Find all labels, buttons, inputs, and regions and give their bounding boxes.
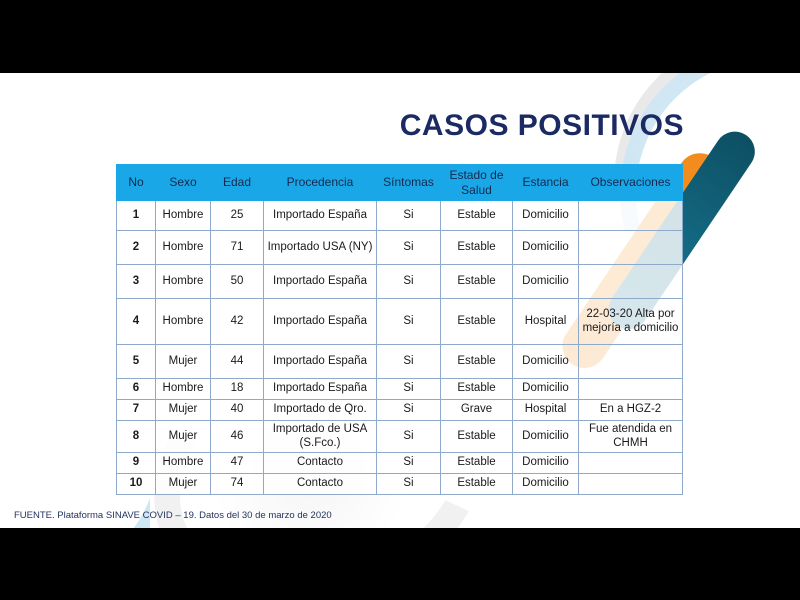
column-header-estancia: Estancia <box>513 165 579 201</box>
table-row: 4 Hombre 42 Importado España Si Estable … <box>117 299 683 345</box>
cell-estado: Estable <box>441 265 513 299</box>
cell-observaciones <box>579 453 683 474</box>
column-header-no: No <box>117 165 156 201</box>
column-header-estado-de-salud: Estado de Salud <box>441 165 513 201</box>
cell-sintomas: Si <box>377 421 441 453</box>
cell-estado: Estable <box>441 345 513 379</box>
cell-procedencia: Contacto <box>264 474 377 495</box>
cell-no: 8 <box>117 421 156 453</box>
cell-procedencia: Importado España <box>264 265 377 299</box>
cell-observaciones <box>579 474 683 495</box>
cell-edad: 71 <box>211 231 264 265</box>
cell-procedencia: Importado España <box>264 299 377 345</box>
cell-sintomas: Si <box>377 265 441 299</box>
cell-observaciones <box>579 379 683 400</box>
cell-estado: Estable <box>441 231 513 265</box>
table-row: 7 Mujer 40 Importado de Qro. Si Grave Ho… <box>117 400 683 421</box>
cell-procedencia: Importado USA (NY) <box>264 231 377 265</box>
table-body: 1 Hombre 25 Importado España Si Estable … <box>117 201 683 495</box>
cell-sexo: Hombre <box>156 299 211 345</box>
slide-stage: CASOS POSITIVOS No Sexo <box>0 0 800 600</box>
cell-no: 3 <box>117 265 156 299</box>
cell-estancia: Domicilio <box>513 453 579 474</box>
cell-no: 6 <box>117 379 156 400</box>
cell-sexo: Mujer <box>156 474 211 495</box>
cell-edad: 18 <box>211 379 264 400</box>
column-header-sintomas: Síntomas <box>377 165 441 201</box>
table-row: 3 Hombre 50 Importado España Si Estable … <box>117 265 683 299</box>
cell-observaciones: En a HGZ-2 <box>579 400 683 421</box>
cell-estado: Estable <box>441 201 513 231</box>
cell-estado: Estable <box>441 474 513 495</box>
cell-sintomas: Si <box>377 400 441 421</box>
cell-estado: Estable <box>441 421 513 453</box>
table-row: 5 Mujer 44 Importado España Si Estable D… <box>117 345 683 379</box>
cell-edad: 25 <box>211 201 264 231</box>
cell-edad: 46 <box>211 421 264 453</box>
cell-procedencia: Importado de Qro. <box>264 400 377 421</box>
cell-edad: 50 <box>211 265 264 299</box>
table-row: 8 Mujer 46 Importado de USA (S.Fco.) Si … <box>117 421 683 453</box>
cell-estancia: Domicilio <box>513 379 579 400</box>
cell-edad: 47 <box>211 453 264 474</box>
cell-estado: Estable <box>441 453 513 474</box>
cell-no: 9 <box>117 453 156 474</box>
cell-estancia: Domicilio <box>513 474 579 495</box>
cell-estado: Estable <box>441 379 513 400</box>
cell-estado: Estable <box>441 299 513 345</box>
cell-observaciones <box>579 231 683 265</box>
table-header-row: No Sexo Edad Procedencia Síntomas Estado… <box>117 165 683 201</box>
cell-observaciones <box>579 345 683 379</box>
column-header-sexo: Sexo <box>156 165 211 201</box>
cell-sexo: Mujer <box>156 400 211 421</box>
cell-procedencia: Importado de USA (S.Fco.) <box>264 421 377 453</box>
letterbox-top <box>0 0 800 73</box>
page-title: CASOS POSITIVOS <box>400 109 684 143</box>
positive-cases-table: No Sexo Edad Procedencia Síntomas Estado… <box>116 164 683 495</box>
cell-sintomas: Si <box>377 379 441 400</box>
cell-edad: 74 <box>211 474 264 495</box>
cell-estancia: Domicilio <box>513 421 579 453</box>
cell-procedencia: Importado España <box>264 379 377 400</box>
cell-no: 2 <box>117 231 156 265</box>
cell-sexo: Hombre <box>156 379 211 400</box>
cell-procedencia: Contacto <box>264 453 377 474</box>
cell-edad: 40 <box>211 400 264 421</box>
cell-sexo: Mujer <box>156 345 211 379</box>
cell-sintomas: Si <box>377 474 441 495</box>
cell-sintomas: Si <box>377 345 441 379</box>
cell-no: 7 <box>117 400 156 421</box>
cell-sexo: Hombre <box>156 453 211 474</box>
table-header: No Sexo Edad Procedencia Síntomas Estado… <box>117 165 683 201</box>
cell-sexo: Hombre <box>156 265 211 299</box>
cell-estancia: Domicilio <box>513 201 579 231</box>
cell-no: 4 <box>117 299 156 345</box>
slide-canvas: CASOS POSITIVOS No Sexo <box>0 73 800 528</box>
cell-no: 5 <box>117 345 156 379</box>
cell-no: 10 <box>117 474 156 495</box>
cell-observaciones: 22-03-20 Alta por mejoría a domicilio <box>579 299 683 345</box>
cell-sexo: Hombre <box>156 201 211 231</box>
cell-edad: 42 <box>211 299 264 345</box>
column-header-edad: Edad <box>211 165 264 201</box>
letterbox-bottom <box>0 528 800 600</box>
cell-sintomas: Si <box>377 231 441 265</box>
cell-sexo: Mujer <box>156 421 211 453</box>
cell-observaciones <box>579 201 683 231</box>
cell-procedencia: Importado España <box>264 345 377 379</box>
column-header-observaciones: Observaciones <box>579 165 683 201</box>
cell-procedencia: Importado España <box>264 201 377 231</box>
cell-estancia: Domicilio <box>513 265 579 299</box>
table-row: 10 Mujer 74 Contacto Si Estable Domicili… <box>117 474 683 495</box>
table-row: 1 Hombre 25 Importado España Si Estable … <box>117 201 683 231</box>
cell-edad: 44 <box>211 345 264 379</box>
table-row: 6 Hombre 18 Importado España Si Estable … <box>117 379 683 400</box>
cell-estancia: Hospital <box>513 400 579 421</box>
cell-no: 1 <box>117 201 156 231</box>
source-footnote: FUENTE. Plataforma SINAVE COVID – 19. Da… <box>14 510 332 521</box>
table-row: 9 Hombre 47 Contacto Si Estable Domicili… <box>117 453 683 474</box>
table-row: 2 Hombre 71 Importado USA (NY) Si Establ… <box>117 231 683 265</box>
cell-observaciones <box>579 265 683 299</box>
column-header-procedencia: Procedencia <box>264 165 377 201</box>
cell-estancia: Hospital <box>513 299 579 345</box>
cell-observaciones: Fue atendida en CHMH <box>579 421 683 453</box>
cases-table-container: No Sexo Edad Procedencia Síntomas Estado… <box>116 164 682 495</box>
cell-sintomas: Si <box>377 299 441 345</box>
cell-estancia: Domicilio <box>513 345 579 379</box>
cell-sexo: Hombre <box>156 231 211 265</box>
cell-sintomas: Si <box>377 453 441 474</box>
cell-sintomas: Si <box>377 201 441 231</box>
cell-estado: Grave <box>441 400 513 421</box>
cell-estancia: Domicilio <box>513 231 579 265</box>
